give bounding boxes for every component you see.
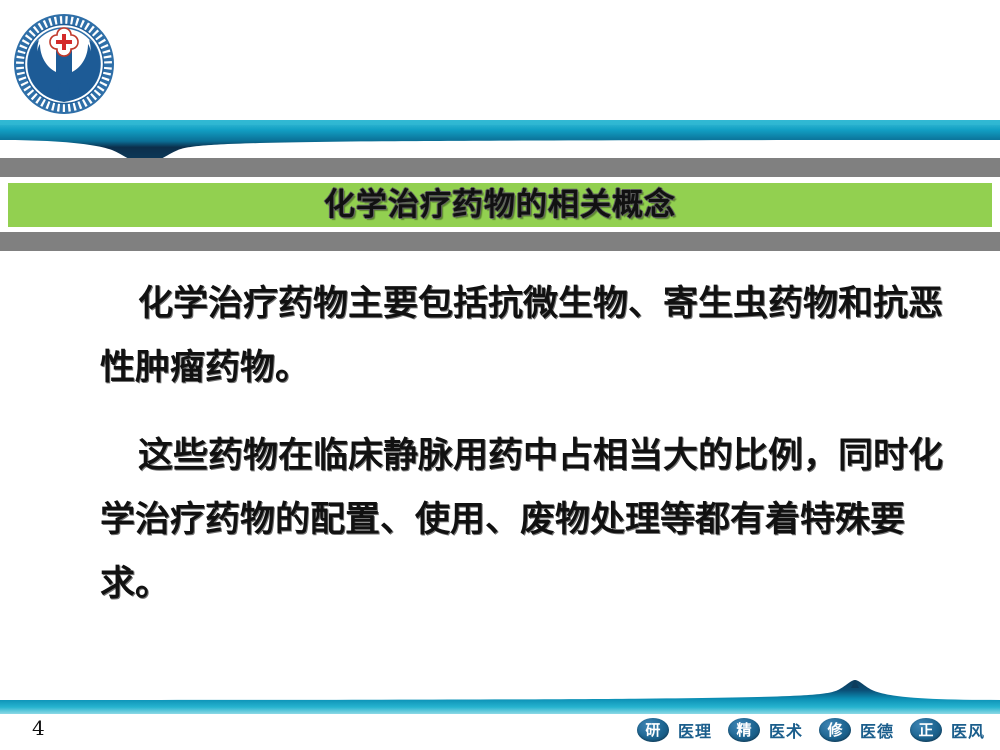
- slide-body: 化学治疗药物主要包括抗微生物、寄生虫药物和抗恶性肿瘤药物。 这些药物在临床静脉用…: [100, 272, 950, 662]
- title-gray-band-bottom: [0, 232, 1000, 251]
- motto-word-4: 医风: [951, 718, 985, 742]
- motto-badge-1: 研: [637, 718, 669, 742]
- motto-pair-1: 研 医理: [637, 718, 712, 742]
- bottom-decorative-ribbon: [0, 680, 1000, 716]
- motto-word-2: 医术: [769, 718, 803, 742]
- slide: 化学治疗药物的相关概念 化学治疗药物主要包括抗微生物、寄生虫药物和抗恶性肿瘤药物…: [0, 0, 1000, 750]
- hospital-logo: [12, 12, 116, 116]
- motto-badge-3: 修: [819, 718, 851, 742]
- motto-badge-2: 精: [728, 718, 760, 742]
- motto-word-1: 医理: [678, 718, 712, 742]
- body-paragraph-2: 这些药物在临床静脉用药中占相当大的比例，同时化学治疗药物的配置、使用、废物处理等…: [100, 424, 950, 616]
- motto-pair-4: 正 医风: [910, 718, 985, 742]
- footer-motto: 研 医理 精 医术 修 医德 正 医风: [637, 714, 994, 746]
- motto-pair-3: 修 医德: [819, 718, 894, 742]
- motto-word-3: 医德: [860, 718, 894, 742]
- motto-pair-2: 精 医术: [728, 718, 803, 742]
- title-gray-band-top: [0, 158, 1000, 177]
- page-number: 4: [32, 716, 45, 740]
- slide-title: 化学治疗药物的相关概念: [0, 183, 1000, 227]
- body-paragraph-1: 化学治疗药物主要包括抗微生物、寄生虫药物和抗恶性肿瘤药物。: [100, 272, 950, 400]
- motto-badge-4: 正: [910, 718, 942, 742]
